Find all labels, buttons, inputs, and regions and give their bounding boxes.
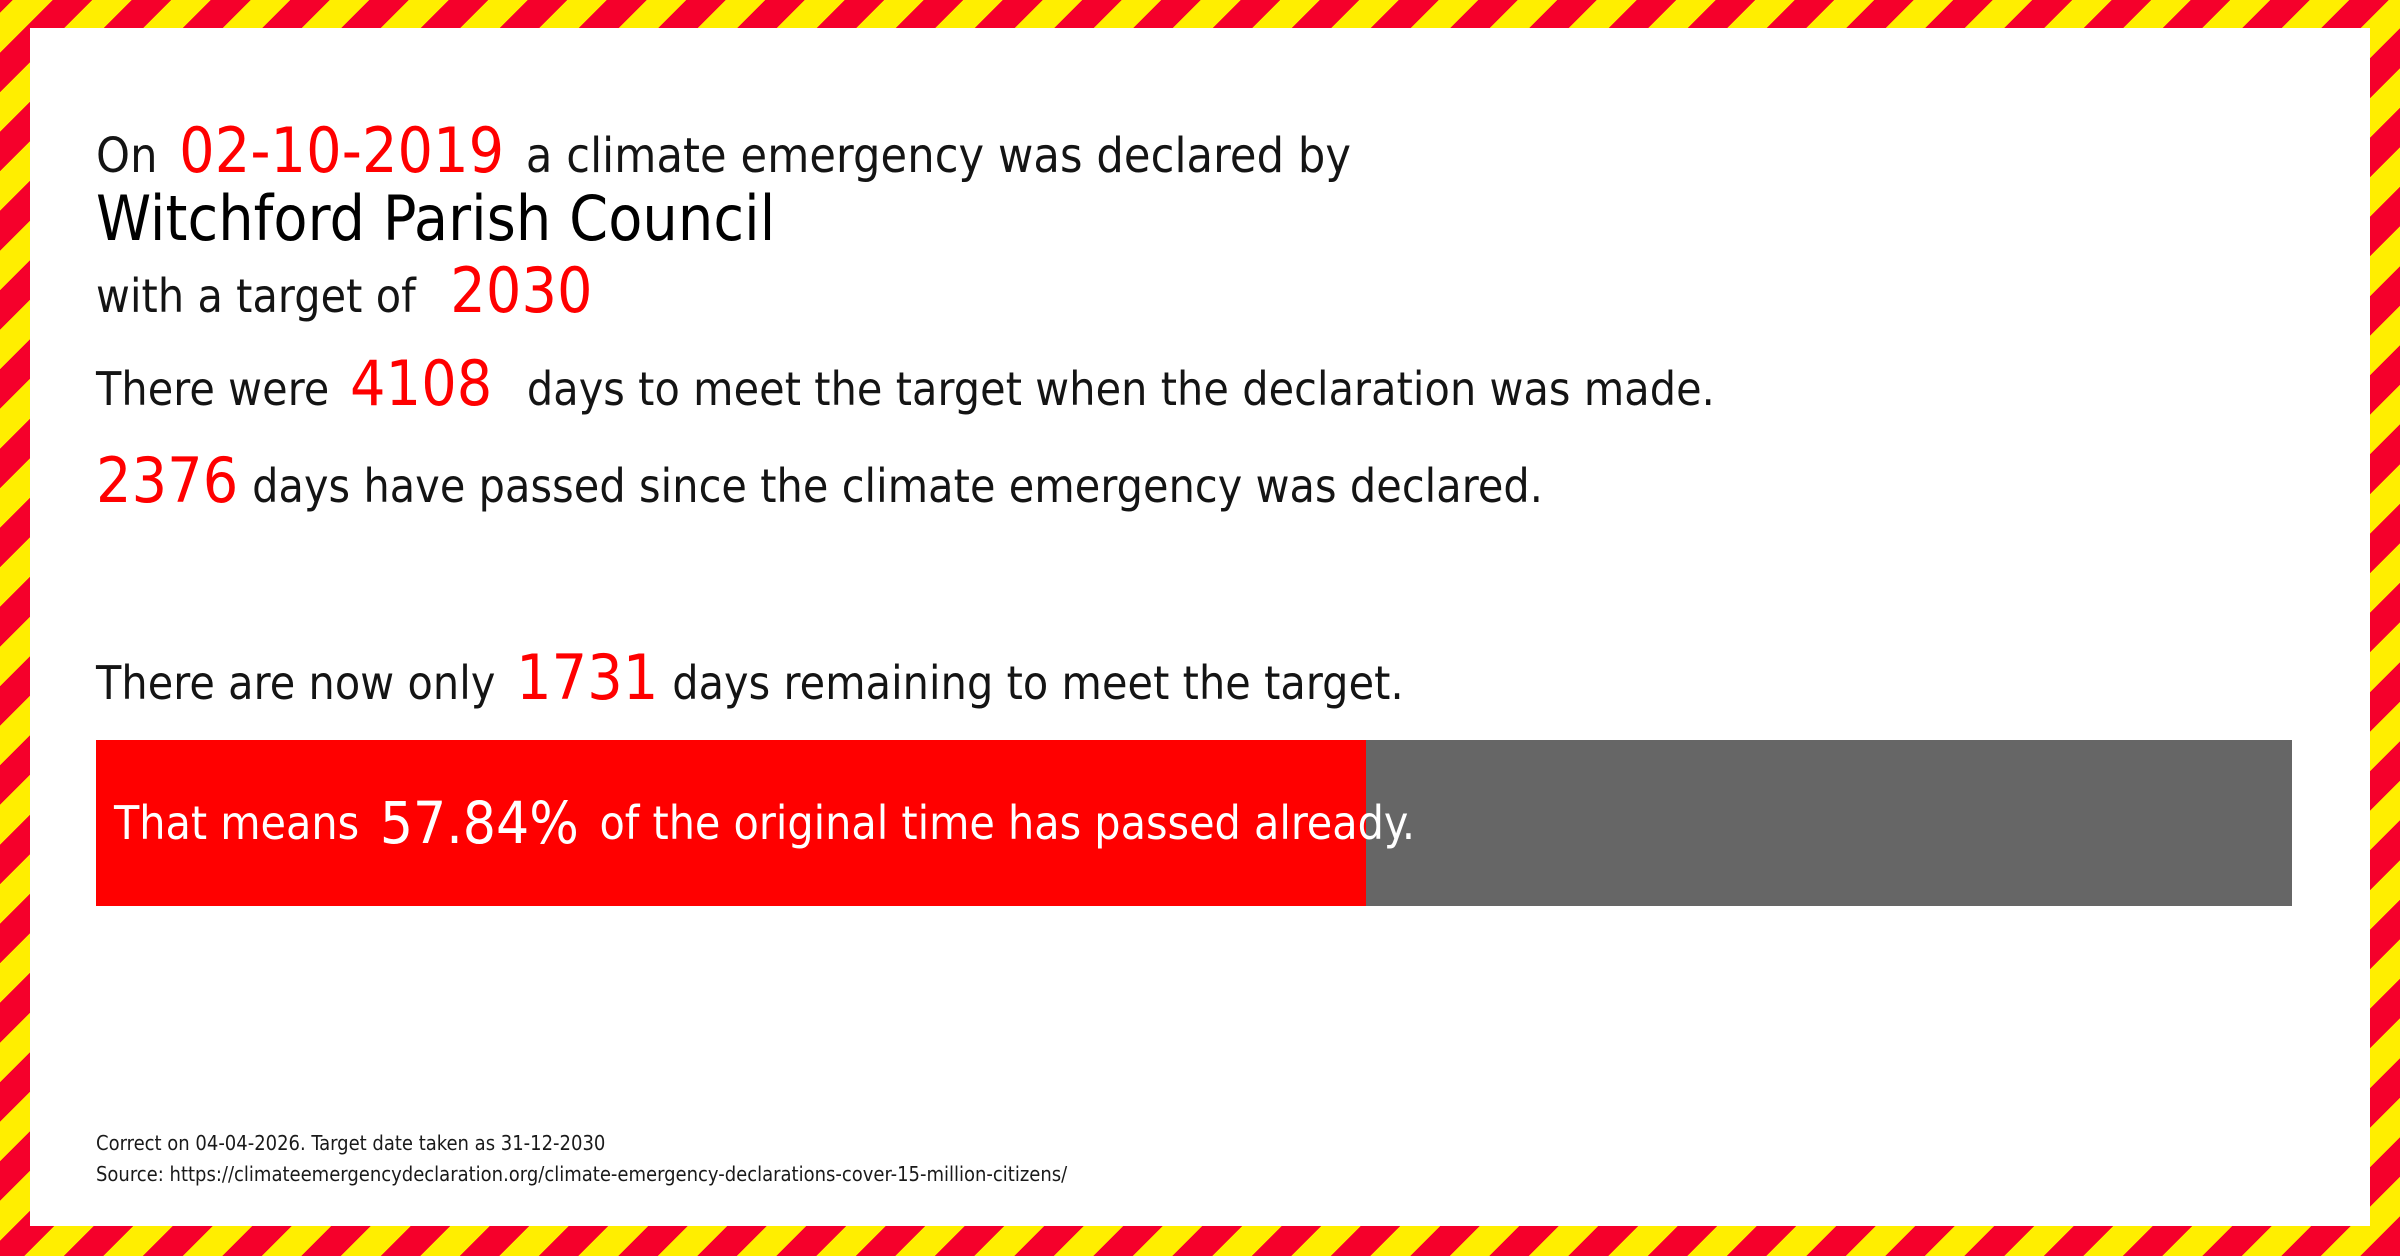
declaration-line: On02-10-2019a climate emergency was decl… <box>96 120 1351 182</box>
days-to-target-value: 4108 <box>350 347 492 420</box>
days-to-target-suffix: days to meet the target when the declara… <box>527 362 1715 416</box>
target-year: 2030 <box>450 254 592 327</box>
progress-percent-value: 57.84% <box>380 794 579 852</box>
progress-bar-label: That means57.84%of the original time has… <box>114 740 1415 906</box>
target-line: with a target of2030 <box>96 260 593 322</box>
progress-label-prefix: That means <box>114 800 359 846</box>
days-to-target-line: There were4108days to meet the target wh… <box>96 353 1715 415</box>
days-passed-value: 2376 <box>96 444 238 517</box>
declaration-prefix: On <box>96 128 158 184</box>
days-remaining-prefix: There are now only <box>96 656 495 710</box>
progress-label-suffix: of the original time has passed already. <box>599 800 1415 846</box>
footnote-source: Source: https://climateemergencydeclarat… <box>96 1159 1067 1190</box>
footnote-correct-on: Correct on 04-04-2026. Target date taken… <box>96 1128 1067 1159</box>
poster-card: On02-10-2019a climate emergency was decl… <box>30 28 2370 1226</box>
days-remaining-suffix: days remaining to meet the target. <box>672 656 1403 710</box>
days-passed-line: 2376days have passed since the climate e… <box>96 450 1543 512</box>
days-remaining-line: There are now only1731days remaining to … <box>96 647 1404 709</box>
hazard-striped-poster-frame: On02-10-2019a climate emergency was decl… <box>0 0 2400 1256</box>
declaring-authority: Witchford Parish Council <box>96 188 775 250</box>
days-to-target-prefix: There were <box>96 362 329 416</box>
days-passed-suffix: days have passed since the climate emerg… <box>252 459 1543 513</box>
poster-text-body: On02-10-2019a climate emergency was decl… <box>30 28 2370 1226</box>
footnotes: Correct on 04-04-2026. Target date taken… <box>96 1128 1067 1190</box>
declaration-date: 02-10-2019 <box>179 114 504 187</box>
elapsed-time-progress-bar: That means57.84%of the original time has… <box>96 740 2292 906</box>
declaration-suffix: a climate emergency was declared by <box>526 128 1351 184</box>
days-remaining-value: 1731 <box>516 641 658 714</box>
target-prefix: with a target of <box>96 269 416 323</box>
